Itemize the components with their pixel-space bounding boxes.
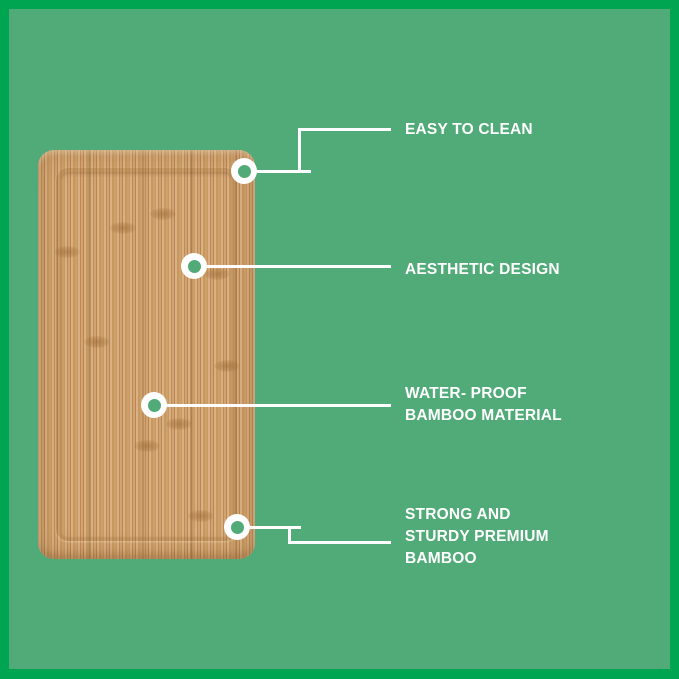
callout-marker-aesthetic-design[interactable] xyxy=(181,253,207,279)
juice-groove xyxy=(56,168,237,541)
callout-label-easy-to-clean: Easy to clean xyxy=(405,119,635,141)
leader-line-easy-to-clean xyxy=(298,128,301,173)
leader-line-water-proof xyxy=(165,404,391,407)
infographic-canvas: Easy to clean Aesthetic design Water- pr… xyxy=(0,0,679,679)
callout-marker-strong-sturdy[interactable] xyxy=(224,514,250,540)
marker-dot xyxy=(238,165,251,178)
leader-line-easy-to-clean xyxy=(298,128,391,131)
marker-dot xyxy=(148,399,161,412)
callout-marker-easy-to-clean[interactable] xyxy=(231,158,257,184)
marker-dot xyxy=(188,260,201,273)
callout-label-aesthetic-design: Aesthetic design xyxy=(405,259,645,281)
callout-marker-water-proof[interactable] xyxy=(141,392,167,418)
bamboo-cutting-board-image xyxy=(38,150,255,559)
leader-line-easy-to-clean xyxy=(255,170,311,173)
leader-line-strong-sturdy xyxy=(288,541,391,544)
callout-label-strong-sturdy: Strong and Sturdy premium Bamboo xyxy=(405,504,645,570)
callout-label-water-proof: Water- proof Bamboo material xyxy=(405,383,645,427)
marker-dot xyxy=(231,521,244,534)
leader-line-aesthetic-design xyxy=(205,265,391,268)
leader-line-strong-sturdy xyxy=(248,526,301,529)
infographic-panel: Easy to clean Aesthetic design Water- pr… xyxy=(9,9,670,669)
